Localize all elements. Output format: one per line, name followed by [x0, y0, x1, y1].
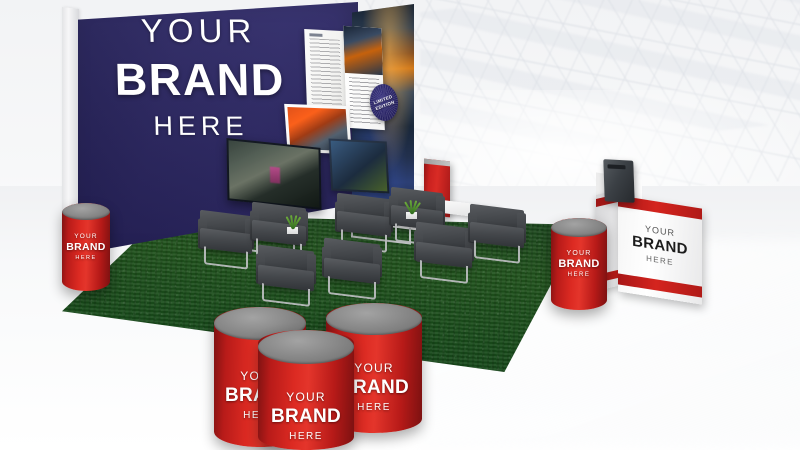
- wall-support-post: [62, 7, 79, 237]
- magazine-photo: [343, 26, 383, 75]
- podium-text-brand: BRAND: [62, 241, 110, 253]
- display-screen: [226, 138, 321, 210]
- lounge-chair: [258, 248, 314, 302]
- screen-accent-highlight: [270, 166, 280, 183]
- podium-text-here: HERE: [258, 431, 354, 442]
- lounge-chair: [200, 213, 252, 265]
- lounge-chair: [416, 225, 472, 279]
- podium-top-surface: [258, 330, 354, 364]
- podium-text-your: YOUR: [258, 390, 354, 404]
- podium-text-your: YOUR: [62, 233, 110, 240]
- lounge-chair: [324, 241, 380, 295]
- podium-text-here: HERE: [551, 272, 607, 278]
- lounge-chair: [470, 207, 524, 259]
- podium-branding: YOUR BRAND HERE: [62, 233, 110, 261]
- podium-text-brand: BRAND: [551, 258, 607, 270]
- counter-monitor: [603, 159, 634, 203]
- podium-branding: YOUR BRAND HERE: [551, 250, 607, 278]
- table-plant: [400, 199, 422, 219]
- podium-text-here: HERE: [62, 255, 110, 261]
- table-plant: [281, 214, 303, 234]
- podium-text-your: YOUR: [551, 250, 607, 257]
- podium-branding: YOUR BRAND HERE: [258, 390, 354, 442]
- podium-counter-side: YOUR BRAND HERE: [551, 218, 607, 310]
- badge-label: LIMITED EDITION: [373, 94, 395, 111]
- magazine-headline-bar: [309, 33, 322, 37]
- podium-left: YOUR BRAND HERE: [62, 203, 110, 291]
- reception-counter: YOUR BRAND HERE: [596, 192, 702, 298]
- podium-top-surface: [551, 218, 607, 237]
- podium-text-brand: BRAND: [258, 406, 354, 428]
- magazine-bottom-photo-panel: [329, 139, 390, 194]
- podium-top-surface: [62, 203, 110, 220]
- exhibition-stand-render: YOUR BRAND HERE LIMITED EDITION: [0, 0, 800, 450]
- podium-front-center: YOUR BRAND HERE: [258, 330, 354, 450]
- podium-top-surface: [326, 303, 422, 335]
